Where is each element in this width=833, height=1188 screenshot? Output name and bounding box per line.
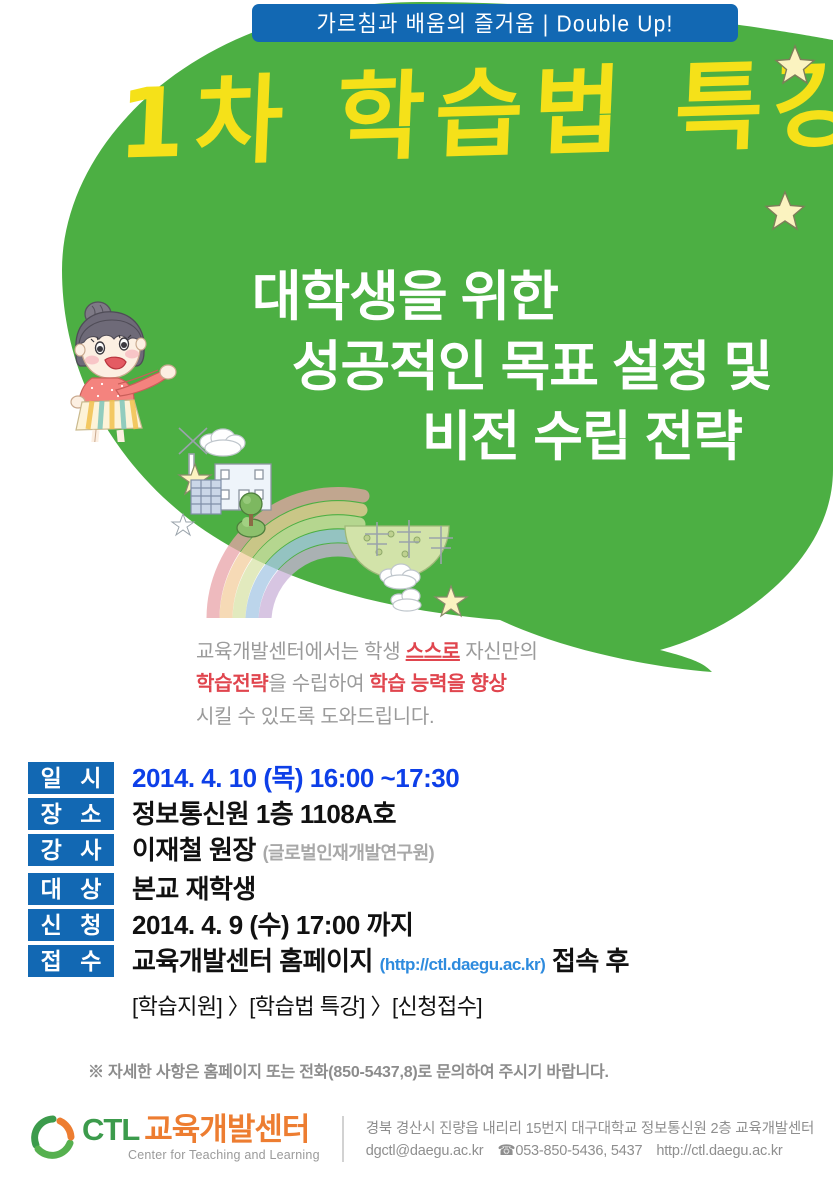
instructor-affiliation: (글로벌인재개발연구원) [263, 843, 435, 863]
reception-text: 교육개발센터 홈페이지 [132, 946, 380, 976]
info-row-reception: 접 수 교육개발센터 홈페이지 (http://ctl.daegu.ac.kr)… [28, 945, 808, 1021]
ctl-logo: CTL교육개발센터 Center for Teaching and Learni… [0, 1106, 320, 1162]
info-value-instructor: 이재철 원장 (글로벌인재개발연구원) [114, 834, 808, 869]
desc-highlight: 학습 능력을 향상 [369, 673, 506, 695]
ctl-korean-name: 교육개발센터 [144, 1112, 309, 1147]
top-ribbon: 가르침과 배움의 즐거움 | Double Up! [252, 4, 738, 42]
footer-contact-line2: dgctl@daegu.ac.kr☎053-850-5436, 5437http… [366, 1140, 814, 1162]
info-value-apply: 2014. 4. 9 (수) 17:00 까지 [114, 909, 808, 941]
info-label-place: 장 소 [28, 798, 114, 830]
info-row-place: 장 소 정보통신원 1층 1108A호 [28, 798, 808, 830]
page-title: 1차 학습법 특강 [116, 52, 810, 179]
info-value-date: 2014. 4. 10 (목) 16:00 ~17:30 [114, 762, 808, 794]
info-label-reception: 접 수 [28, 945, 114, 977]
desc-highlight: 스스로 [406, 641, 460, 663]
desc-text: 을 수립하여 [268, 673, 369, 695]
info-row-instructor: 강 사 이재철 원장 (글로벌인재개발연구원) [28, 834, 808, 869]
footer-address: 경북 경산시 진량읍 내리리 15번지 대구대학교 정보통신원 2층 교육개발센… [366, 1118, 814, 1140]
reception-path: [학습지원] 〉[학습법 특강] 〉[신청접수] [114, 989, 808, 1021]
reception-url[interactable]: (http://ctl.daegu.ac.kr) [380, 955, 546, 974]
footer: CTL교육개발센터 Center for Teaching and Learni… [0, 1106, 833, 1188]
footer-phone: 053-850-5436, 5437 [515, 1143, 642, 1159]
info-label-instructor: 강 사 [28, 834, 114, 866]
info-value-place: 정보통신원 1층 1108A호 [114, 798, 808, 830]
ctl-abbrev: CTL [82, 1112, 139, 1147]
info-table: 일 시 2014. 4. 10 (목) 16:00 ~17:30 장 소 정보통… [28, 762, 808, 1025]
subtitle-line-3: 비전 수립 전략 [120, 402, 780, 472]
subtitle-block: 대학생을 위한 성공적인 목표 설정 및 비전 수립 전략 [120, 262, 780, 473]
description-line-3: 시킬 수 있도록 도와드립니다. [196, 701, 716, 733]
star-icon [772, 42, 818, 93]
footnote: ※ 자세한 사항은 홈페이지 또는 전화(850-5437,8)로 문의하여 주… [88, 1058, 609, 1082]
ctl-tagline: Center for Teaching and Learning [128, 1148, 320, 1162]
subtitle-line-1: 대학생을 위한 [120, 262, 780, 332]
phone-icon: ☎ [497, 1143, 515, 1159]
ctl-logo-text: CTL교육개발센터 Center for Teaching and Learni… [82, 1114, 320, 1162]
poster-root: 가르침과 배움의 즐거움 | Double Up! 1차 학습법 특강 대학생을… [0, 0, 833, 1188]
desc-text: 교육개발센터에서는 학생 [196, 641, 406, 663]
ctl-circle-icon [30, 1115, 76, 1161]
star-icon [762, 188, 808, 239]
description-line-2: 학습전략을 수립하여 학습 능력을 향상 [196, 668, 716, 700]
footer-divider [342, 1116, 344, 1162]
description-line-1: 교육개발센터에서는 학생 스스로 자신만의 [196, 636, 716, 668]
footer-contact: 경북 경산시 진량읍 내리리 15번지 대구대학교 정보통신원 2층 교육개발센… [366, 1106, 814, 1163]
description-block: 교육개발센터에서는 학생 스스로 자신만의 학습전략을 수립하여 학습 능력을 … [196, 636, 716, 733]
desc-highlight: 학습전략 [196, 673, 268, 695]
instructor-name: 이재철 원장 [132, 835, 256, 865]
ctl-logo-line1: CTL교육개발센터 [82, 1114, 320, 1145]
ribbon-text: 가르침과 배움의 즐거움 | Double Up! [316, 7, 673, 39]
info-label-apply: 신 청 [28, 909, 114, 941]
info-row-date: 일 시 2014. 4. 10 (목) 16:00 ~17:30 [28, 762, 808, 794]
subtitle-line-2: 성공적인 목표 설정 및 [120, 332, 780, 402]
footer-website[interactable]: http://ctl.daegu.ac.kr [656, 1143, 782, 1159]
reception-text-after: 접속 후 [545, 946, 629, 976]
info-label-audience: 대 상 [28, 873, 114, 905]
info-value-audience: 본교 재학생 [114, 873, 808, 905]
footer-email[interactable]: dgctl@daegu.ac.kr [366, 1143, 484, 1159]
info-row-apply: 신 청 2014. 4. 9 (수) 17:00 까지 [28, 909, 808, 941]
desc-text: 자신만의 [460, 641, 538, 663]
info-row-audience: 대 상 본교 재학생 [28, 873, 808, 905]
info-value-reception: 교육개발센터 홈페이지 (http://ctl.daegu.ac.kr) 접속 … [114, 945, 808, 981]
info-label-date: 일 시 [28, 762, 114, 794]
